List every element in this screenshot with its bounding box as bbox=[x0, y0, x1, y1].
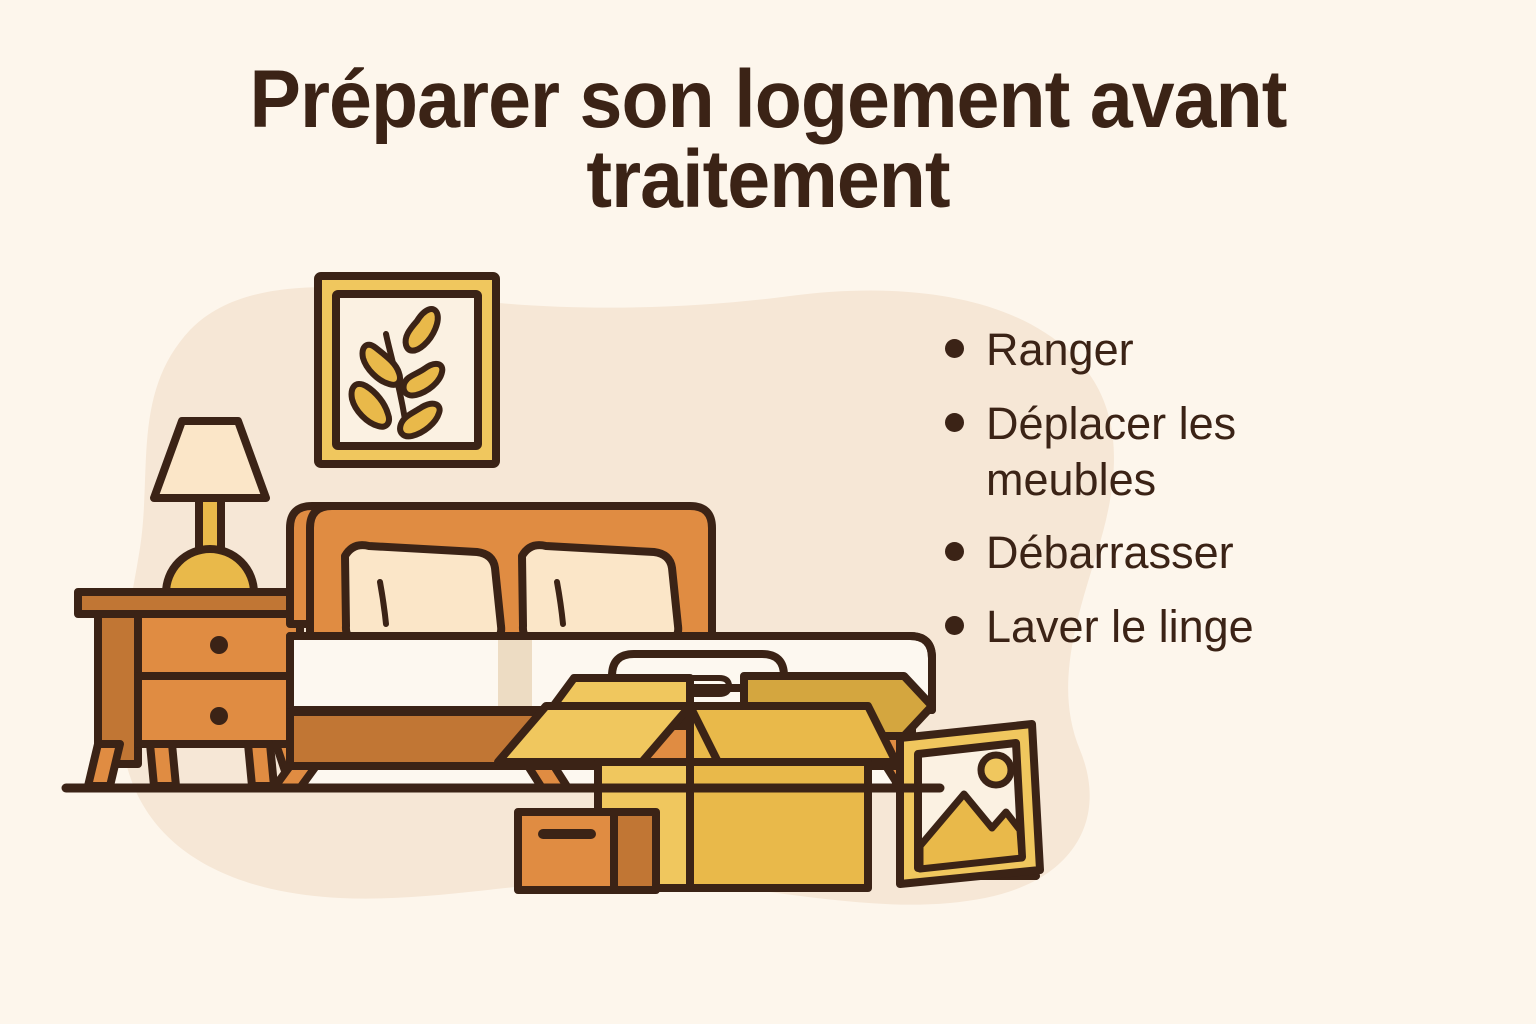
list-item[interactable]: Débarrasser bbox=[945, 525, 1415, 581]
standing-picture-frame bbox=[900, 724, 1040, 884]
bullet-dot-icon bbox=[945, 616, 964, 635]
poster-canvas: .ln { fill:none; stroke:#3b2316; stroke-… bbox=[0, 0, 1536, 1024]
list-item-label: Débarrasser bbox=[986, 525, 1234, 581]
page-title-line-2: traitement bbox=[46, 140, 1490, 220]
bullet-dot-icon bbox=[945, 339, 964, 358]
pillow-right bbox=[522, 545, 678, 640]
list-item-label: Ranger bbox=[986, 322, 1134, 378]
page-title: Préparer son logement avant traitement bbox=[46, 60, 1490, 221]
list-item-label: Laver le linge bbox=[986, 599, 1254, 655]
list-item[interactable]: Laver le linge bbox=[945, 599, 1415, 655]
pillow-left bbox=[345, 545, 501, 640]
bullet-dot-icon bbox=[945, 413, 964, 432]
page-title-line-1: Préparer son logement avant bbox=[46, 60, 1490, 140]
list-item-label: Déplacer les meubles bbox=[986, 396, 1415, 508]
bullet-dot-icon bbox=[945, 542, 964, 561]
small-orange-box bbox=[518, 812, 656, 890]
list-item[interactable]: Déplacer les meubles bbox=[945, 396, 1415, 508]
wall-art-frame bbox=[318, 276, 496, 464]
list-item[interactable]: Ranger bbox=[945, 322, 1415, 378]
checklist: Ranger Déplacer les meubles Débarrasser … bbox=[945, 322, 1415, 673]
